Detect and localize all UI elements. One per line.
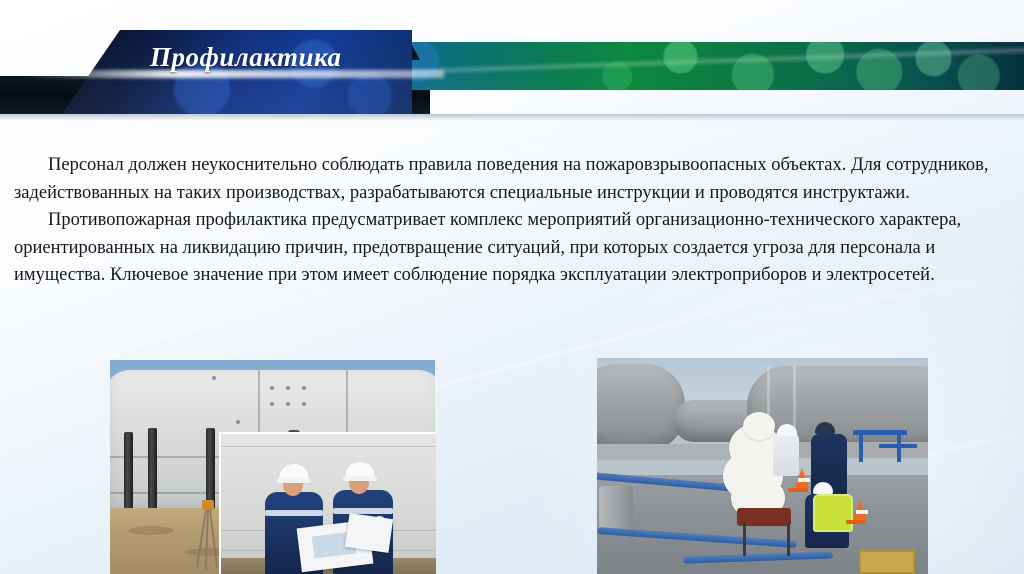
tank-bolt <box>302 402 306 406</box>
paragraph-2: Противопожарная профилактика предусматри… <box>14 207 1014 290</box>
horizontal-tank <box>597 364 685 452</box>
cart-leg <box>787 522 790 556</box>
slide-canvas: Профилактика Персонал должен неукоснител… <box>0 0 1024 574</box>
paragraph-1: Персонал должен неукоснительно соблюдать… <box>14 152 1014 207</box>
blue-rig-leg <box>859 430 863 462</box>
worker-helmet-brim <box>343 476 377 481</box>
banner-under-shadow <box>0 114 1024 121</box>
tank-bolt <box>302 386 306 390</box>
ground-detail <box>128 526 174 535</box>
floor-grate <box>859 550 915 574</box>
foam-mass <box>743 412 775 440</box>
tank-bolt <box>286 386 290 390</box>
worker-helmet-brim <box>277 478 311 483</box>
body-text: Персонал должен неукоснительно соблюдать… <box>14 152 1014 290</box>
hi-vis-vest <box>813 494 853 532</box>
wall-seam <box>221 446 436 447</box>
worker-stripe <box>265 510 323 516</box>
tank-bolt <box>270 386 274 390</box>
traffic-cone-base <box>846 520 866 524</box>
tank-bolt <box>236 420 240 424</box>
tank-bolt <box>286 402 290 406</box>
foam-drill-photo <box>597 358 928 574</box>
tank-bolt <box>270 402 274 406</box>
workers-with-drawings-photo <box>219 432 436 574</box>
traffic-cone-base <box>788 488 808 492</box>
blue-rig <box>879 444 917 448</box>
vertical-pipe <box>124 432 133 514</box>
traffic-cone-band <box>856 510 868 514</box>
traffic-cone-band <box>798 478 810 482</box>
tank-bolt <box>212 376 216 380</box>
worker-stripe <box>333 508 393 514</box>
cart-leg <box>743 522 746 556</box>
metal-drum <box>599 486 633 532</box>
drawing-sheet <box>345 513 393 553</box>
vertical-pipe <box>148 428 157 514</box>
tripod-head <box>202 500 214 510</box>
page-title: Профилактика <box>150 44 342 71</box>
